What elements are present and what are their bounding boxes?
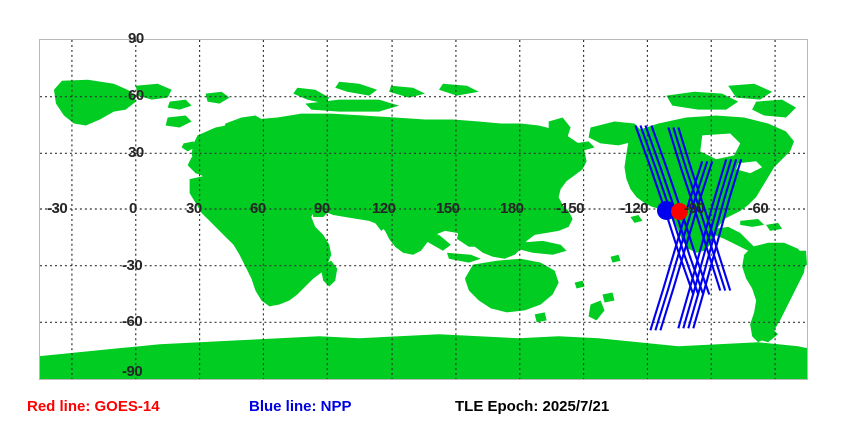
lon-tick-30: 30 [186,200,202,217]
lat-tick-90: 90 [128,30,144,47]
legend-tle-epoch: TLE Epoch: 2025/7/21 [455,398,609,415]
lon-tick-90: 90 [314,200,330,217]
lon-tick-120: 120 [372,200,396,217]
lon-tick-150: 150 [436,200,460,217]
legend-red-line: Red line: GOES-14 [27,398,160,415]
lon-tick--90: -90 [684,200,704,217]
lat-tick--90: -90 [122,363,142,380]
lon-tick--30: -30 [47,200,67,217]
lat-tick-60: 60 [128,87,144,104]
lon-tick--120: -120 [620,200,648,217]
lon-tick-60: 60 [250,200,266,217]
lat-tick--30: -30 [122,257,142,274]
lat-tick--60: -60 [122,313,142,330]
lon-tick-180: 180 [500,200,524,217]
lon-tick--150: -150 [556,200,584,217]
legend-blue-line: Blue line: NPP [249,398,352,415]
lat-tick-30: 30 [128,144,144,161]
lon-tick-0: 0 [129,200,137,217]
satellite-track-figure: -30 0 30 60 90 120 150 180 -150 -120 -90… [0,0,850,425]
lon-tick--60: -60 [748,200,768,217]
